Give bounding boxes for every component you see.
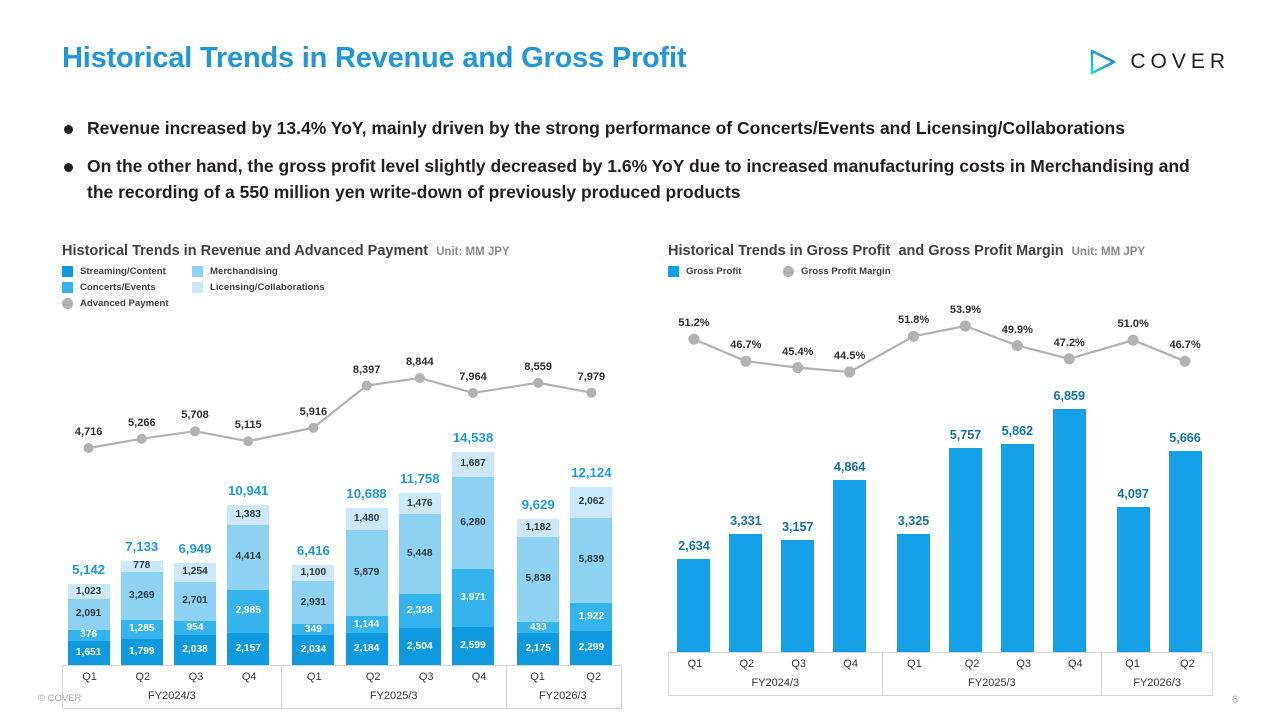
axis-quarter-label: Q3: [998, 658, 1050, 670]
axis-quarter-label: Q2: [946, 658, 998, 670]
axis-quarter-label: Q3: [169, 671, 222, 683]
axis-quarter-label: Q1: [507, 671, 569, 683]
segment-value-label: 2,175: [525, 644, 551, 654]
segment-value-label: 2,062: [579, 497, 605, 507]
axis-group-FY20253: Q1Q2Q3Q4FY2025/3: [282, 666, 507, 708]
play-triangle-icon: [1088, 48, 1118, 76]
bullet-dot-icon: [64, 125, 73, 134]
revenue-stacked-bar[interactable]: 1,1002,9313492,034: [292, 565, 334, 665]
segment-value-label: 376: [80, 630, 97, 640]
legend-label: Concerts/Events: [80, 282, 156, 293]
revenue-chart-title-text: Historical Trends in Revenue and Advance…: [62, 243, 428, 259]
legend-item-licensing-collaborations: Licensing/Collaborations: [192, 282, 392, 293]
axis-quarter-label: Q1: [63, 671, 116, 683]
revenue-segment-concerts-events[interactable]: 433: [517, 622, 559, 633]
gross-profit-margin-value-label: 45.4%: [782, 346, 813, 358]
segment-value-label: 1,922: [579, 612, 605, 622]
axis-quarter-label: Q2: [347, 671, 400, 683]
list-item: Revenue increased by 13.4% YoY, mainly d…: [64, 116, 1199, 142]
segment-value-label: 2,504: [407, 642, 433, 652]
segment-value-label: 2,034: [301, 645, 327, 655]
legend-label: Streaming/Content: [80, 266, 166, 277]
advanced-payment-value-label: 5,266: [128, 417, 156, 429]
gross-profit-margin-value-label: 51.8%: [898, 314, 929, 326]
advanced-payment-value-label: 8,397: [353, 364, 381, 376]
revenue-segment-streaming-content[interactable]: 1,799: [121, 639, 163, 665]
advanced-payment-value-label: 5,115: [235, 419, 262, 431]
segment-value-label: 6,280: [460, 518, 486, 528]
legend-label: Licensing/Collaborations: [210, 282, 325, 293]
axis-group-FY20263: Q1Q2FY2026/3: [1102, 653, 1212, 695]
axis-group-FY20263: Q1Q2FY2026/3: [507, 666, 619, 708]
page-title: Historical Trends in Revenue and Gross P…: [62, 42, 686, 75]
revenue-segment-merchandising[interactable]: 5,838: [517, 537, 559, 623]
gross-profit-bar[interactable]: [1169, 451, 1202, 652]
revenue-chart-legend: Streaming/Content Merchandising Concerts…: [62, 266, 392, 314]
gross-profit-value-label: 4,097: [1117, 487, 1149, 501]
revenue-x-axis: Q1Q2Q3Q4FY2024/3Q1Q2Q3Q4FY2025/3Q1Q2FY20…: [62, 665, 622, 709]
logo-wordmark: COVER: [1130, 50, 1230, 74]
advanced-payment-value-label: 5,708: [181, 409, 209, 421]
revenue-total-label: 14,538: [453, 430, 493, 445]
axis-fiscal-year-label: FY2026/3: [1102, 677, 1212, 689]
advanced-payment-value-label: 4,716: [75, 426, 103, 438]
revenue-segment-concerts-events[interactable]: 2,985: [227, 590, 269, 634]
revenue-segment-streaming-content[interactable]: 2,599: [452, 627, 494, 665]
gross-profit-bar[interactable]: [1053, 409, 1086, 652]
gross-profit-value-label: 4,864: [834, 460, 866, 474]
gross-profit-value-label: 3,325: [898, 514, 930, 528]
gross-profit-margin-value-label: 53.9%: [950, 304, 981, 316]
legend-swatch-icon: [668, 266, 679, 277]
segment-value-label: 1,182: [525, 523, 551, 533]
segment-value-label: 1,799: [129, 647, 155, 657]
gross-profit-margin-value-label: 46.7%: [1169, 339, 1200, 351]
revenue-bar-slot[interactable]: 6,4161,1002,9313492,034: [281, 320, 346, 665]
segment-value-label: 2,299: [579, 643, 605, 653]
segment-value-label: 2,328: [407, 606, 433, 616]
segment-value-label: 1,254: [182, 567, 208, 577]
revenue-total-label: 11,758: [400, 471, 440, 486]
axis-fiscal-year-label: FY2025/3: [282, 690, 506, 702]
revenue-segment-merchandising[interactable]: 2,931: [292, 581, 334, 624]
legend-swatch-icon: [62, 282, 73, 293]
revenue-segment-licensing-collaborations[interactable]: 1,480: [346, 508, 388, 530]
axis-group-FY20243: Q1Q2Q3Q4FY2024/3: [669, 653, 883, 695]
bullet-dot-icon: [64, 163, 73, 172]
revenue-segment-concerts-events[interactable]: 1,285: [121, 620, 163, 639]
segment-value-label: 778: [133, 561, 150, 571]
legend-swatch-icon: [192, 282, 203, 293]
gross-profit-value-label: 3,157: [782, 520, 814, 534]
legend-item-advanced-payment: Advanced Payment: [62, 298, 192, 309]
advanced-payment-value-label: 7,979: [578, 371, 606, 383]
gross-profit-chart-unit: Unit: MM JPY: [1072, 246, 1145, 258]
segment-value-label: 349: [305, 625, 322, 635]
revenue-stacked-bar[interactable]: 1,1825,8384332,175: [517, 519, 559, 665]
gross-profit-bar-slot[interactable]: 5,757: [940, 294, 992, 652]
legend-label: Gross Profit: [686, 266, 741, 277]
revenue-total-label: 5,142: [72, 562, 105, 577]
legend-item-merchandising: Merchandising: [192, 266, 392, 277]
gross-profit-value-label: 5,666: [1169, 431, 1201, 445]
revenue-chart-panel: Historical Trends in Revenue and Advance…: [62, 243, 622, 709]
gross-profit-bar-slot[interactable]: 2,634: [668, 294, 720, 652]
revenue-segment-streaming-content[interactable]: 2,184: [346, 633, 388, 665]
revenue-stacked-bar[interactable]: 1,0232,0913761,651: [68, 584, 110, 665]
segment-value-label: 1,687: [460, 459, 486, 469]
revenue-bar-slot[interactable]: 5,1421,0232,0913761,651: [62, 320, 115, 665]
gross-profit-chart-title-text: Historical Trends in Gross Profit and Gr…: [668, 243, 1064, 259]
gross-profit-bar[interactable]: [677, 559, 710, 652]
axis-quarter-label: Q2: [721, 658, 773, 670]
revenue-total-label: 6,416: [297, 543, 330, 558]
gross-profit-bar[interactable]: [949, 448, 982, 652]
revenue-chart-unit: Unit: MM JPY: [436, 246, 509, 258]
revenue-segment-merchandising[interactable]: 2,091: [68, 599, 110, 630]
gross-profit-margin-value-label: 51.0%: [1118, 318, 1149, 330]
legend-label: Gross Profit Margin: [801, 266, 891, 277]
gross-profit-bar[interactable]: [1117, 507, 1150, 652]
revenue-segment-concerts-events[interactable]: 1,144: [346, 616, 388, 633]
revenue-segment-streaming-content[interactable]: 2,504: [399, 628, 441, 665]
segment-value-label: 5,839: [579, 555, 605, 565]
revenue-total-label: 9,629: [522, 497, 555, 512]
cover-logo: COVER: [1088, 48, 1230, 76]
legend-swatch-icon: [192, 266, 203, 277]
axis-fiscal-year-label: FY2024/3: [63, 690, 281, 702]
revenue-segment-merchandising[interactable]: 6,280: [452, 477, 494, 569]
legend-label: Advanced Payment: [80, 298, 169, 309]
footer-copyright: © COVER: [38, 693, 81, 704]
segment-value-label: 2,985: [235, 606, 261, 616]
revenue-segment-concerts-events[interactable]: 376: [68, 630, 110, 641]
axis-fiscal-year-label: FY2026/3: [507, 690, 619, 702]
revenue-segment-merchandising[interactable]: 2,701: [174, 582, 216, 622]
axis-quarter-label: Q2: [568, 671, 619, 683]
revenue-bar-slot[interactable]: 10,9411,3834,4142,9852,157: [222, 320, 275, 665]
revenue-stacked-bar[interactable]: 1,2542,7019542,038: [174, 563, 216, 665]
gross-profit-value-label: 6,859: [1053, 389, 1085, 403]
revenue-segment-concerts-events[interactable]: 349: [292, 624, 334, 635]
segment-value-label: 5,448: [407, 549, 433, 559]
advanced-payment-value-label: 8,844: [406, 356, 434, 368]
segment-value-label: 2,701: [182, 596, 208, 606]
segment-value-label: 1,100: [301, 568, 327, 578]
gross-profit-margin-value-label: 47.2%: [1054, 337, 1085, 349]
revenue-total-label: 7,133: [125, 539, 158, 554]
axis-quarter-label: Q2: [1163, 658, 1212, 670]
revenue-segment-licensing-collaborations[interactable]: 2,062: [570, 487, 612, 517]
revenue-bar-slot[interactable]: 11,7581,4765,4482,3282,504: [393, 320, 446, 665]
segment-value-label: 5,838: [525, 574, 551, 584]
segment-value-label: 1,383: [235, 510, 261, 520]
revenue-segment-merchandising[interactable]: 4,414: [227, 525, 269, 590]
axis-quarter-label: Q4: [1050, 658, 1102, 670]
segment-value-label: 2,599: [460, 641, 486, 651]
axis-fiscal-year-label: FY2024/3: [669, 677, 882, 689]
gross-profit-chart-panel: Historical Trends in Gross Profit and Gr…: [668, 243, 1213, 696]
legend-swatch-icon: [62, 298, 73, 309]
revenue-segment-licensing-collaborations[interactable]: 1,100: [292, 565, 334, 581]
revenue-segment-streaming-content[interactable]: 1,651: [68, 641, 110, 665]
segment-value-label: 1,476: [407, 499, 433, 509]
revenue-total-label: 10,941: [228, 483, 268, 498]
revenue-bar-slot[interactable]: 7,1337783,2691,2851,799: [115, 320, 168, 665]
axis-quarter-label: Q1: [1102, 658, 1163, 670]
revenue-total-label: 10,688: [346, 486, 386, 501]
revenue-chart-title: Historical Trends in Revenue and Advance…: [62, 243, 622, 259]
revenue-segment-licensing-collaborations[interactable]: 1,687: [452, 452, 494, 477]
legend-item-streaming-content: Streaming/Content: [62, 266, 192, 277]
segment-value-label: 4,414: [235, 552, 261, 562]
gross-profit-bar[interactable]: [729, 534, 762, 652]
revenue-segment-streaming-content[interactable]: 2,034: [292, 635, 334, 665]
gross-profit-bar[interactable]: [1001, 444, 1034, 652]
revenue-segment-merchandising[interactable]: 5,879: [346, 530, 388, 616]
revenue-total-label: 12,124: [571, 465, 611, 480]
segment-value-label: 1,144: [354, 620, 380, 630]
axis-quarter-label: Q2: [116, 671, 169, 683]
revenue-segment-merchandising[interactable]: 5,448: [399, 514, 441, 594]
gross-profit-value-label: 3,331: [730, 514, 762, 528]
revenue-stacked-bar[interactable]: 1,6876,2803,9712,599: [452, 452, 494, 665]
revenue-segment-licensing-collaborations[interactable]: 1,254: [174, 563, 216, 581]
revenue-stacked-bar[interactable]: 1,4805,8791,1442,184: [346, 508, 388, 665]
advanced-payment-value-label: 5,916: [300, 406, 328, 418]
revenue-segment-licensing-collaborations[interactable]: 1,182: [517, 519, 559, 536]
revenue-segment-streaming-content[interactable]: 2,157: [227, 633, 269, 665]
axis-quarter-label: Q1: [669, 658, 721, 670]
axis-quarter-label: Q3: [400, 671, 453, 683]
gross-profit-value-label: 2,634: [678, 539, 710, 553]
list-item: On the other hand, the gross profit leve…: [64, 154, 1199, 206]
gross-profit-margin-value-label: 49.9%: [1002, 324, 1033, 336]
revenue-segment-streaming-content[interactable]: 2,175: [517, 633, 559, 665]
segment-value-label: 1,285: [129, 624, 155, 634]
axis-quarter-label: Q1: [883, 658, 947, 670]
gross-profit-value-label: 5,862: [1002, 424, 1034, 438]
segment-value-label: 954: [186, 623, 203, 633]
legend-swatch-icon: [62, 266, 73, 277]
gross-profit-x-axis: Q1Q2Q3Q4FY2024/3Q1Q2Q3Q4FY2025/3Q1Q2FY20…: [668, 652, 1213, 696]
gross-profit-margin-value-label: 46.7%: [730, 339, 761, 351]
legend-item-gross-profit-margin: Gross Profit Margin: [783, 266, 891, 277]
axis-fiscal-year-label: FY2025/3: [883, 677, 1102, 689]
legend-item-concerts-events: Concerts/Events: [62, 282, 192, 293]
gross-profit-margin-value-label: 44.5%: [834, 350, 865, 362]
revenue-segment-licensing-collaborations[interactable]: 1,383: [227, 505, 269, 525]
revenue-segment-licensing-collaborations[interactable]: 778: [121, 561, 163, 572]
segment-value-label: 2,091: [76, 609, 102, 619]
revenue-segment-concerts-events[interactable]: 954: [174, 621, 216, 635]
gross-profit-plot-area: 2,6343,3313,1574,8643,3255,7575,8626,859…: [668, 294, 1211, 652]
segment-value-label: 3,971: [460, 593, 486, 603]
revenue-stacked-bar[interactable]: 1,4765,4482,3282,504: [399, 493, 441, 665]
axis-quarter-label: Q3: [773, 658, 825, 670]
advanced-payment-value-label: 8,559: [524, 361, 552, 373]
segment-value-label: 1,480: [354, 514, 380, 524]
revenue-segment-concerts-events[interactable]: 1,922: [570, 603, 612, 631]
gross-profit-chart-title: Historical Trends in Gross Profit and Gr…: [668, 243, 1213, 259]
axis-quarter-label: Q1: [282, 671, 347, 683]
segment-value-label: 2,157: [235, 644, 261, 654]
axis-quarter-label: Q4: [825, 658, 877, 670]
axis-group-FY20253: Q1Q2Q3Q4FY2025/3: [883, 653, 1103, 695]
revenue-segment-merchandising[interactable]: 5,839: [570, 518, 612, 604]
bullet-list: Revenue increased by 13.4% YoY, mainly d…: [64, 116, 1199, 218]
gross-profit-bar-slot[interactable]: 5,862: [991, 294, 1043, 652]
legend-swatch-icon: [783, 266, 794, 277]
legend-label: Merchandising: [210, 266, 278, 277]
revenue-segment-concerts-events[interactable]: 2,328: [399, 594, 441, 628]
segment-value-label: 1,023: [76, 587, 102, 597]
revenue-segment-licensing-collaborations[interactable]: 1,476: [399, 493, 441, 515]
gross-profit-bar-slot[interactable]: 3,325: [882, 294, 946, 652]
revenue-stacked-bar[interactable]: 2,0625,8391,9222,299: [570, 487, 612, 665]
segment-value-label: 2,184: [354, 644, 380, 654]
page-number: 6: [1232, 694, 1238, 706]
segment-value-label: 1,651: [76, 648, 102, 658]
revenue-segment-concerts-events[interactable]: 3,971: [452, 569, 494, 627]
revenue-bar-slot[interactable]: 6,9491,2542,7019542,038: [168, 320, 221, 665]
revenue-total-label: 6,949: [178, 541, 211, 556]
segment-value-label: 433: [530, 623, 547, 633]
bullet-text: Revenue increased by 13.4% YoY, mainly d…: [87, 116, 1125, 142]
gross-profit-value-label: 5,757: [950, 428, 982, 442]
gross-profit-margin-value-label: 51.2%: [678, 317, 709, 329]
gross-profit-chart-legend: Gross Profit Gross Profit Margin: [668, 266, 1088, 282]
segment-value-label: 2,931: [301, 598, 327, 608]
gross-profit-bar-slot[interactable]: 4,097: [1101, 294, 1165, 652]
bullet-text: On the other hand, the gross profit leve…: [87, 154, 1199, 206]
segment-value-label: 2,038: [182, 645, 208, 655]
gross-profit-bar-slot[interactable]: 4,864: [824, 294, 876, 652]
legend-item-gross-profit: Gross Profit: [668, 266, 783, 277]
segment-value-label: 5,879: [354, 568, 380, 578]
revenue-plot-area: 5,1421,0232,0913761,6517,1337783,2691,28…: [62, 320, 618, 665]
gross-profit-bar[interactable]: [833, 480, 866, 652]
gross-profit-bar[interactable]: [781, 540, 814, 652]
revenue-stacked-bar[interactable]: 1,3834,4142,9852,157: [227, 505, 269, 665]
axis-quarter-label: Q4: [453, 671, 506, 683]
segment-value-label: 3,269: [129, 591, 155, 601]
axis-quarter-label: Q4: [223, 671, 276, 683]
revenue-segment-streaming-content[interactable]: 2,299: [570, 631, 612, 665]
advanced-payment-value-label: 7,964: [459, 371, 487, 383]
gross-profit-bar[interactable]: [897, 534, 930, 652]
revenue-segment-streaming-content[interactable]: 2,038: [174, 635, 216, 665]
revenue-segment-licensing-collaborations[interactable]: 1,023: [68, 584, 110, 599]
slide: Historical Trends in Revenue and Gross P…: [0, 0, 1280, 720]
revenue-stacked-bar[interactable]: 7783,2691,2851,799: [121, 561, 163, 665]
axis-group-FY20243: Q1Q2Q3Q4FY2024/3: [63, 666, 282, 708]
revenue-segment-merchandising[interactable]: 3,269: [121, 572, 163, 620]
